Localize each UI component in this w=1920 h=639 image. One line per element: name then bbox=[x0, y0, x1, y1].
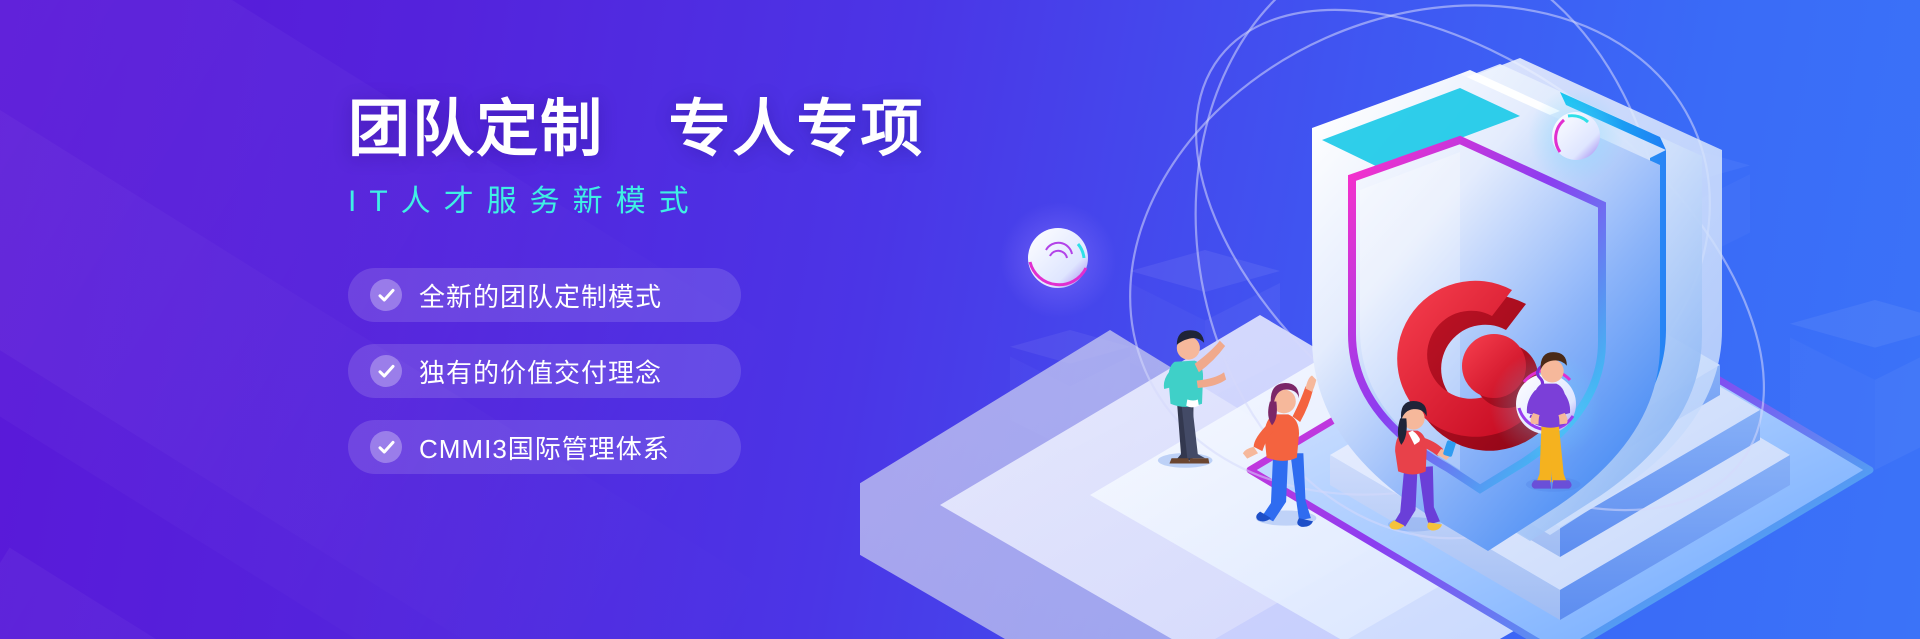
feature-pill-label: 独有的价值交付理念 bbox=[419, 353, 662, 390]
page-title: 团队定制 专人专项 bbox=[348, 96, 1108, 164]
headline-part-2: 专人专项 bbox=[668, 95, 924, 164]
feature-pill-3[interactable]: CMMI3国际管理体系 bbox=[348, 420, 741, 474]
feature-pill-label: 全新的团队定制模式 bbox=[419, 277, 662, 314]
feature-pill-1[interactable]: 全新的团队定制模式 bbox=[348, 268, 741, 322]
feature-pill-2[interactable]: 独有的价值交付理念 bbox=[348, 344, 741, 398]
check-icon bbox=[370, 355, 402, 387]
background-light-band bbox=[0, 548, 773, 639]
feature-pill-list: 全新的团队定制模式 独有的价值交付理念 CMMI3国际管理体系 bbox=[348, 268, 1108, 474]
headline-part-1: 团队定制 bbox=[348, 95, 604, 164]
check-icon bbox=[370, 279, 402, 311]
page-subtitle: IT人才服务新模式 bbox=[348, 184, 1108, 220]
sphere-node bbox=[1528, 88, 1624, 184]
feature-pill-label: CMMI3国际管理体系 bbox=[419, 429, 670, 466]
hero-banner: 团队定制 专人专项 IT人才服务新模式 全新的团队定制模式 bbox=[0, 0, 1920, 639]
hero-copy: 团队定制 专人专项 IT人才服务新模式 全新的团队定制模式 bbox=[348, 96, 1108, 474]
check-icon bbox=[370, 431, 402, 463]
